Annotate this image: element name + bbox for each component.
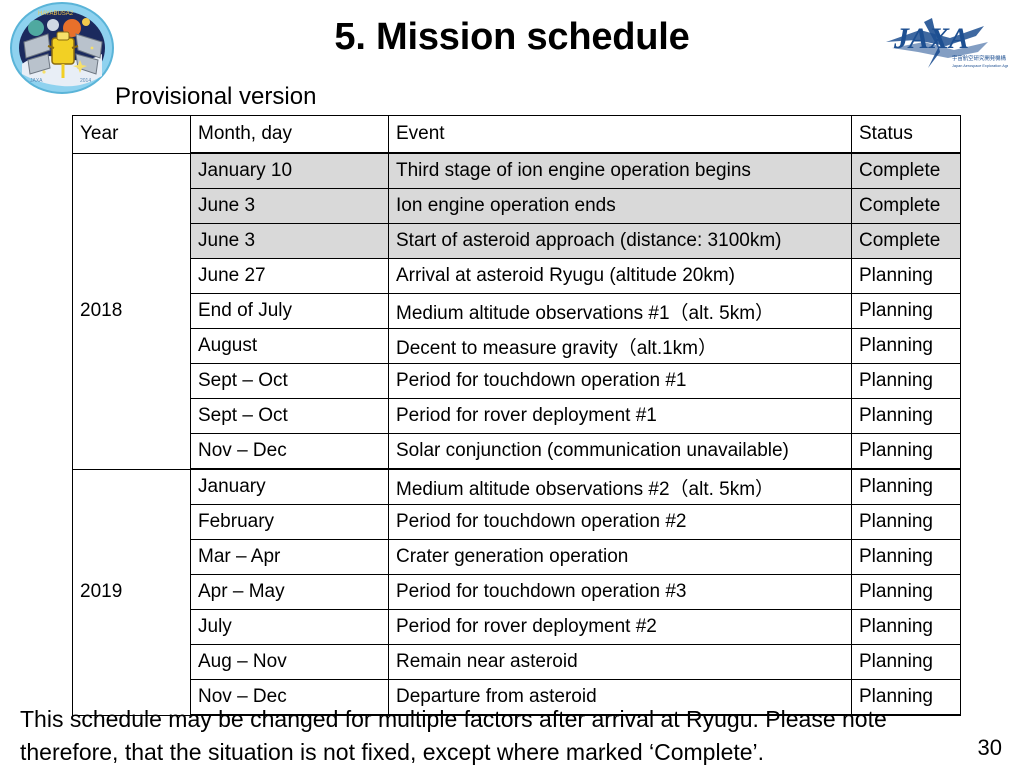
cell-event: Solar conjunction (communication unavail… [389, 434, 852, 470]
table-row: Aug – NovRemain near asteroidPlanning [73, 645, 961, 680]
svg-text:宇宙航空研究開発機構: 宇宙航空研究開発機構 [952, 54, 1007, 62]
mission-schedule-table: Year Month, day Event Status 2018January… [72, 115, 960, 716]
cell-status: Planning [852, 399, 961, 434]
cell-event: Start of asteroid approach (distance: 31… [389, 224, 852, 259]
cell-month: Sept – Oct [191, 364, 389, 399]
cell-event: Period for touchdown operation #1 [389, 364, 852, 399]
cell-month: June 3 [191, 224, 389, 259]
page-title: 5. Mission schedule [0, 14, 1024, 60]
svg-text:JAXA: JAXA [30, 78, 43, 84]
cell-month: July [191, 610, 389, 645]
cell-year: 2019 [73, 469, 191, 715]
cell-status: Planning [852, 575, 961, 610]
table-row: JulyPeriod for rover deployment #2Planni… [73, 610, 961, 645]
cell-month: February [191, 505, 389, 540]
table-row: 2019JanuaryMedium altitude observations … [73, 469, 961, 505]
footer-note: This schedule may be changed for multipl… [20, 703, 940, 769]
column-header-month: Month, day [191, 116, 389, 154]
table-header-row: Year Month, day Event Status [73, 116, 961, 154]
cell-event: Medium altitude observations #1（alt. 5km… [389, 294, 852, 329]
svg-text:JAXA: JAXA [893, 22, 969, 55]
cell-status: Planning [852, 540, 961, 575]
table-row: June 27Arrival at asteroid Ryugu (altitu… [73, 259, 961, 294]
cell-event: Period for touchdown operation #2 [389, 505, 852, 540]
cell-status: Planning [852, 294, 961, 329]
cell-month: June 27 [191, 259, 389, 294]
cell-month: Sept – Oct [191, 399, 389, 434]
cell-month: Nov – Dec [191, 434, 389, 470]
cell-event: Remain near asteroid [389, 645, 852, 680]
cell-month: Mar – Apr [191, 540, 389, 575]
cell-status: Complete [852, 224, 961, 259]
page-number: 30 [978, 735, 1002, 761]
column-header-event: Event [389, 116, 852, 154]
table-row: 2018January 10Third stage of ion engine … [73, 153, 961, 189]
cell-event: Ion engine operation ends [389, 189, 852, 224]
cell-month: June 3 [191, 189, 389, 224]
cell-status: Planning [852, 434, 961, 470]
cell-year: 2018 [73, 153, 191, 469]
cell-event: Decent to measure gravity（alt.1km） [389, 329, 852, 364]
cell-status: Planning [852, 364, 961, 399]
cell-month: January 10 [191, 153, 389, 189]
table-row: Mar – AprCrater generation operationPlan… [73, 540, 961, 575]
cell-event: Period for rover deployment #2 [389, 610, 852, 645]
cell-status: Planning [852, 505, 961, 540]
column-header-year: Year [73, 116, 191, 154]
table-row: June 3Ion engine operation endsComplete [73, 189, 961, 224]
cell-event: Third stage of ion engine operation begi… [389, 153, 852, 189]
cell-status: Planning [852, 610, 961, 645]
table-row: June 3Start of asteroid approach (distan… [73, 224, 961, 259]
cell-event: Crater generation operation [389, 540, 852, 575]
provisional-version-label: Provisional version [115, 83, 316, 111]
table-row: AugustDecent to measure gravity（alt.1km）… [73, 329, 961, 364]
table-row: Apr – MayPeriod for touchdown operation … [73, 575, 961, 610]
jaxa-logo-icon: JAXA 宇宙航空研究開発機構 Japan Aerospace Explorat… [880, 12, 1008, 74]
cell-month: Aug – Nov [191, 645, 389, 680]
table-row: Sept – OctPeriod for touchdown operation… [73, 364, 961, 399]
cell-month: January [191, 469, 389, 505]
cell-event: Arrival at asteroid Ryugu (altitude 20km… [389, 259, 852, 294]
cell-status: Planning [852, 469, 961, 505]
table-row: FebruaryPeriod for touchdown operation #… [73, 505, 961, 540]
cell-event: Period for rover deployment #1 [389, 399, 852, 434]
svg-text:2014: 2014 [80, 78, 91, 84]
cell-month: End of July [191, 294, 389, 329]
cell-status: Complete [852, 189, 961, 224]
table-row: Sept – OctPeriod for rover deployment #1… [73, 399, 961, 434]
column-header-status: Status [852, 116, 961, 154]
cell-status: Planning [852, 645, 961, 680]
cell-month: Apr – May [191, 575, 389, 610]
table-row: End of JulyMedium altitude observations … [73, 294, 961, 329]
cell-status: Complete [852, 153, 961, 189]
svg-text:Japan Aerospace Exploration Ag: Japan Aerospace Exploration Agency [952, 64, 1008, 68]
table-row: Nov – DecSolar conjunction (communicatio… [73, 434, 961, 470]
cell-event: Medium altitude observations #2（alt. 5km… [389, 469, 852, 505]
cell-month: August [191, 329, 389, 364]
cell-event: Period for touchdown operation #3 [389, 575, 852, 610]
cell-status: Planning [852, 259, 961, 294]
cell-status: Planning [852, 329, 961, 364]
